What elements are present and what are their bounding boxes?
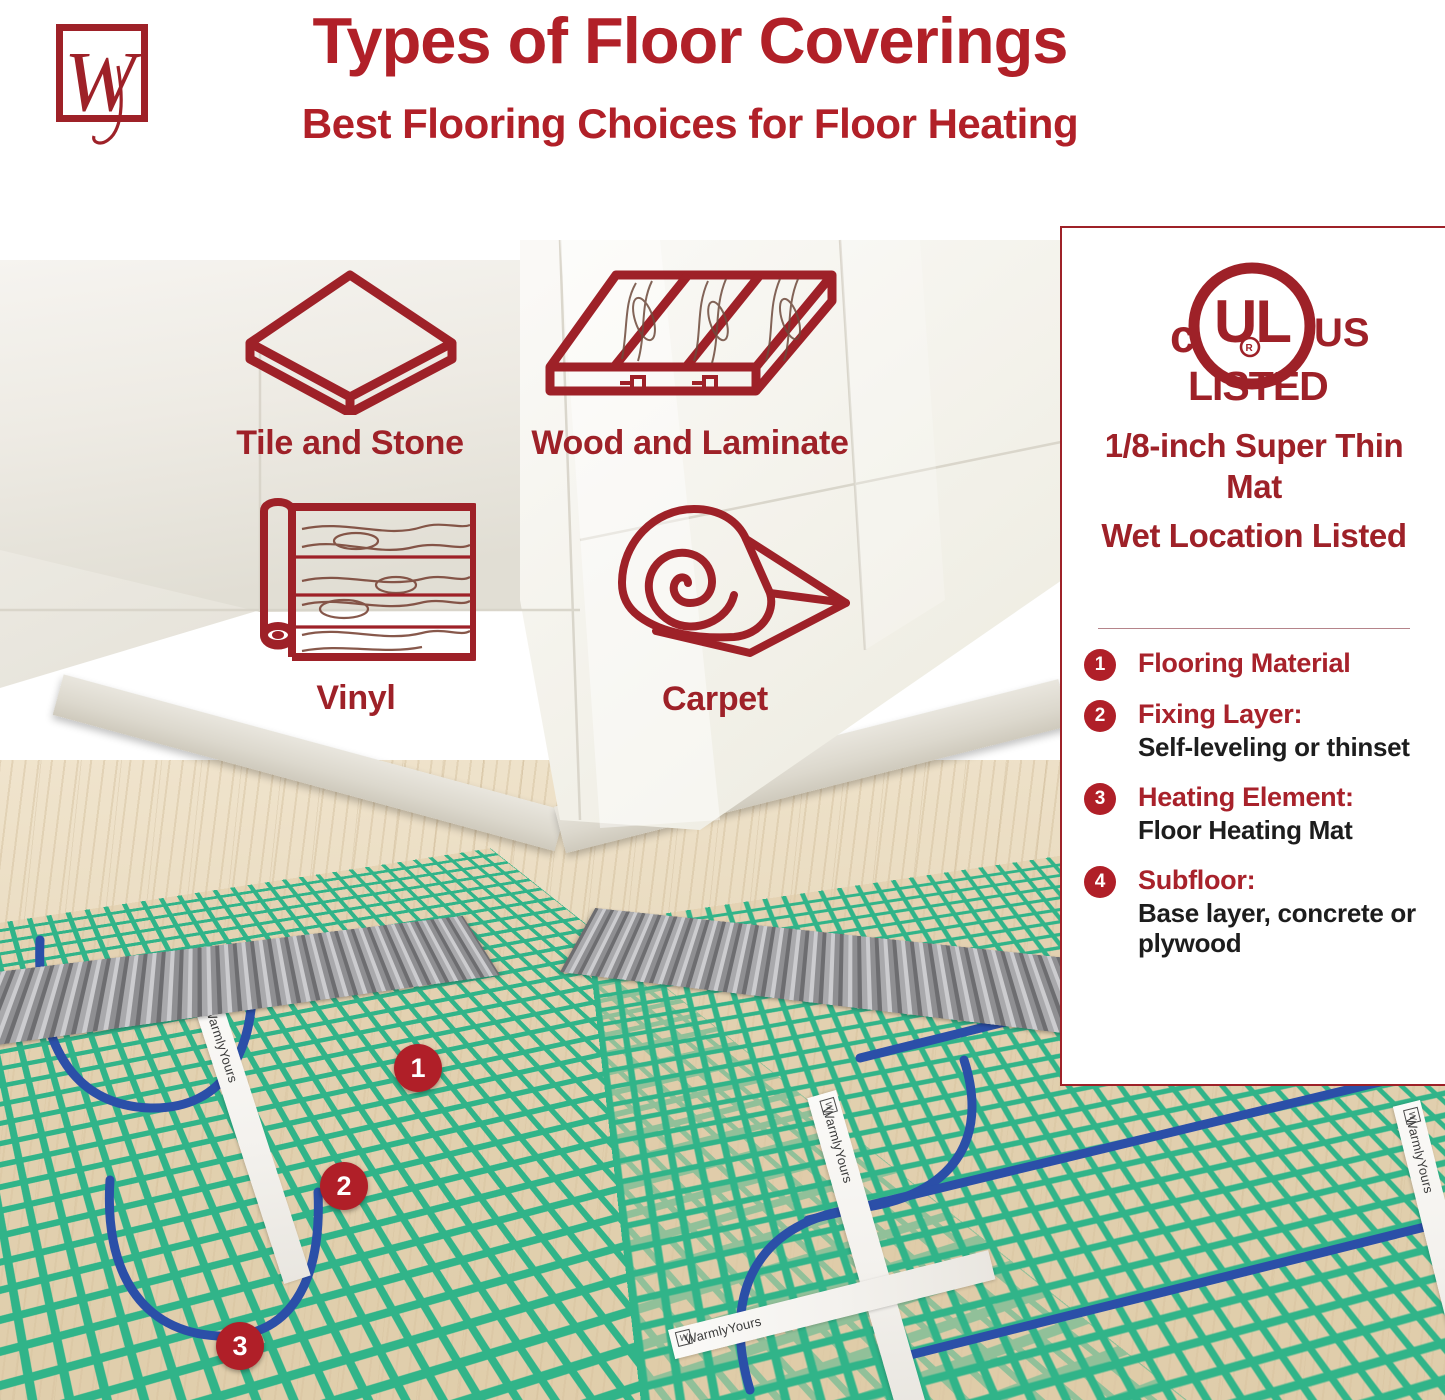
flooring-types-group: Tile and Stone [230, 255, 930, 725]
legend-badge-2: 2 [1084, 700, 1116, 732]
infographic-header: W Types of Floor Coverings Best Flooring… [0, 0, 1445, 200]
legend-badge-3: 3 [1084, 783, 1116, 815]
legend-title-3: Heating Element: [1138, 782, 1434, 813]
photo-callout-3: 3 [216, 1322, 264, 1370]
wy-monogram-icon: W [48, 18, 156, 148]
flooring-type-tile-and-stone: Tile and Stone [230, 255, 470, 463]
flooring-type-wood-and-laminate: Wood and Laminate [530, 255, 850, 463]
photo-callout-2: 2 [320, 1162, 368, 1210]
legend-desc-3: Floor Heating Mat [1138, 815, 1434, 846]
ul-listed-mark-icon: c UL R US LISTED [1062, 256, 1443, 406]
legend-badge-4: 4 [1084, 866, 1116, 898]
page-subtitle: Best Flooring Choices for Floor Heating [170, 100, 1210, 148]
legend-desc-2: Self-leveling or thinset [1138, 732, 1434, 763]
photo-callout-1: 1 [394, 1044, 442, 1092]
svg-text:LISTED: LISTED [1188, 363, 1328, 406]
ul-headline-thin-mat: 1/8-inch Super Thin Mat [1084, 426, 1424, 507]
legend-desc-4: Base layer, concrete or plywood [1138, 898, 1434, 959]
legend-title-2: Fixing Layer: [1138, 699, 1434, 730]
flooring-type-label: Wood and Laminate [530, 424, 850, 463]
ul-headline-wet-location: Wet Location Listed [1084, 516, 1424, 557]
ul-certification-panel: c UL R US LISTED 1/8-inch Super Thin Mat… [1060, 226, 1445, 1086]
layer-legend-list: 1 Flooring Material 2 Fixing Layer: Self… [1084, 648, 1434, 979]
wood-plank-icon [540, 255, 840, 415]
legend-item-3: 3 Heating Element: Floor Heating Mat [1084, 782, 1434, 845]
tile-slab-icon [230, 255, 470, 415]
legend-item-4: 4 Subfloor: Base layer, concrete or plyw… [1084, 865, 1434, 959]
warmlyyours-logo: W [48, 18, 156, 126]
vinyl-roll-icon [236, 485, 476, 670]
legend-title-1: Flooring Material [1138, 648, 1434, 679]
legend-title-4: Subfloor: [1138, 865, 1434, 896]
legend-item-1: 1 Flooring Material [1084, 648, 1434, 679]
legend-item-2: 2 Fixing Layer: Self-leveling or thinset [1084, 699, 1434, 762]
flooring-type-label: Tile and Stone [230, 424, 470, 463]
svg-text:W: W [64, 33, 143, 129]
panel-divider [1098, 628, 1410, 629]
flooring-type-carpet: Carpet [570, 491, 860, 719]
svg-text:US: US [1314, 311, 1370, 355]
flooring-type-label: Vinyl [236, 679, 476, 718]
carpet-roll-icon [570, 491, 860, 671]
legend-badge-1: 1 [1084, 649, 1116, 681]
svg-text:R: R [1246, 343, 1254, 354]
page-title: Types of Floor Coverings [170, 6, 1210, 76]
flooring-type-label: Carpet [570, 680, 860, 719]
flooring-type-vinyl: Vinyl [236, 485, 476, 718]
